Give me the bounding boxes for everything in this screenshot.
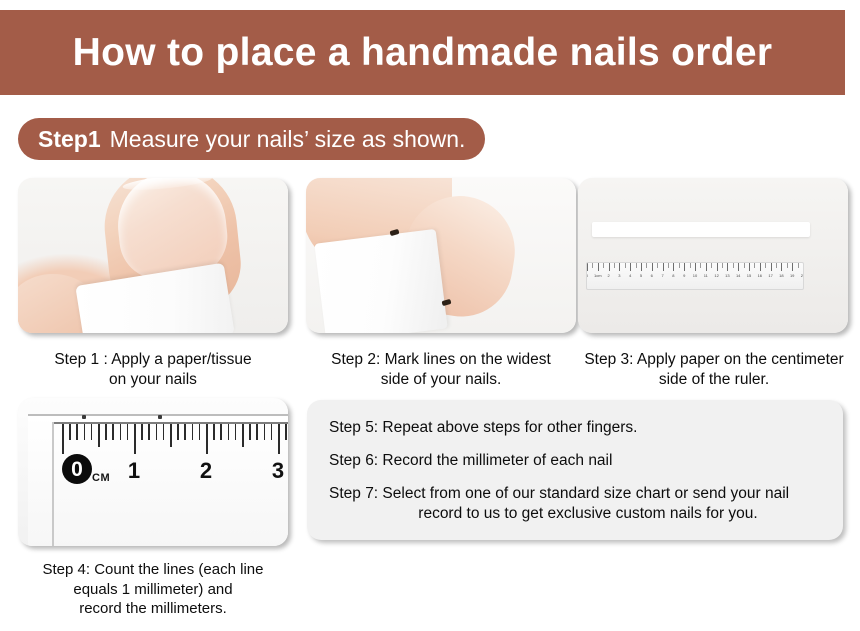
- marked-paper-shape: [314, 229, 447, 333]
- ruler-zero-label: 0: [71, 459, 83, 480]
- ruler-pin-left: [82, 415, 86, 419]
- ruler-zero-marker: 0: [62, 454, 92, 484]
- caption-step-1-line-1: Step 1 : Apply a paper/tissue: [2, 350, 304, 370]
- caption-step-4-line-1: Step 4: Count the lines (each line: [0, 560, 306, 580]
- step1-pill: Step1 Measure your nails’ size as shown.: [18, 118, 485, 160]
- small-ruler-ticks: [587, 263, 803, 272]
- step1-instruction-text: Measure your nails’ size as shown.: [110, 126, 466, 153]
- small-ruler: 01cm234567891011121314151617181920: [586, 262, 804, 290]
- caption-step-2-line-2: side of your nails.: [296, 370, 586, 390]
- ruler-pin-right: [158, 415, 162, 419]
- instruction-graphic: How to place a handmade nails order Step…: [0, 0, 860, 631]
- ruler-unit-label: CM: [92, 472, 110, 484]
- ruler-millimeter-ticks: [52, 424, 288, 454]
- step-7-line-2: record to us to get exclusive custom nai…: [329, 504, 821, 524]
- photo-mark-lines: [306, 178, 576, 333]
- caption-step-4-line-3: record the millimeters.: [0, 599, 306, 619]
- small-ruler-numbers: 01cm234567891011121314151617181920: [587, 273, 803, 285]
- step-7-line-1: Step 7: Select from one of our standard …: [329, 485, 789, 502]
- caption-step-3: Step 3: Apply paper on the centimeter si…: [568, 350, 860, 391]
- photo-card-mark-lines: [306, 178, 576, 333]
- step-7-text: Step 7: Select from one of our standard …: [329, 484, 821, 524]
- photo-card-apply-paper: [18, 178, 288, 333]
- caption-step-4-line-2: equals 1 millimeter) and: [0, 580, 306, 600]
- caption-step-3-line-2: side of the ruler.: [568, 370, 860, 390]
- photo-paper-on-ruler: 01cm234567891011121314151617181920: [578, 178, 848, 333]
- step1-badge-label: Step1: [38, 126, 101, 153]
- caption-step-2-line-1: Step 2: Mark lines on the widest: [296, 350, 586, 370]
- caption-step-1-line-2: on your nails: [2, 370, 304, 390]
- paper-strip-on-ruler: [592, 222, 810, 237]
- caption-step-2: Step 2: Mark lines on the widest side of…: [296, 350, 586, 391]
- photo-card-ruler-closeup: 123 0 CM: [18, 398, 288, 546]
- header-banner: How to place a handmade nails order: [0, 10, 845, 95]
- photo-apply-paper: [18, 178, 288, 333]
- caption-step-4: Step 4: Count the lines (each line equal…: [0, 560, 306, 619]
- caption-step-1: Step 1 : Apply a paper/tissue on your na…: [2, 350, 304, 391]
- photo-ruler-closeup: 123 0 CM: [18, 398, 288, 546]
- steps-5-to-7-panel: Step 5: Repeat above steps for other fin…: [307, 400, 843, 540]
- paper-strip-shape: [75, 263, 234, 333]
- step-5-text: Step 5: Repeat above steps for other fin…: [329, 418, 821, 438]
- step-6-text: Step 6: Record the millimeter of each na…: [329, 451, 821, 471]
- caption-step-3-line-1: Step 3: Apply paper on the centimeter: [568, 350, 860, 370]
- photo-card-paper-on-ruler: 01cm234567891011121314151617181920: [578, 178, 848, 333]
- page-title: How to place a handmade nails order: [73, 31, 773, 75]
